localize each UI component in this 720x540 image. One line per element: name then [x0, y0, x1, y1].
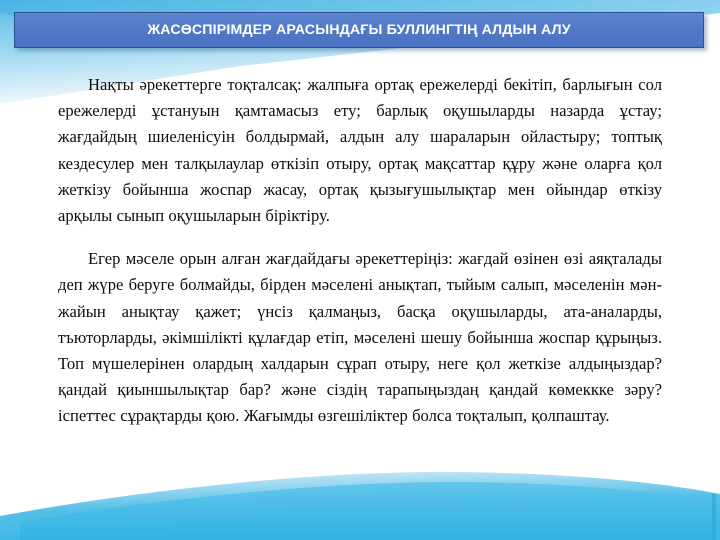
slide-title-bar: ЖАСӨСПІРІМДЕР АРАСЫНДАҒЫ БУЛЛИНГТІҢ АЛДЫ…: [14, 12, 704, 48]
bottom-arc-main: [20, 482, 712, 540]
body-paragraph-2: Егер мәселе орын алған жағдайдағы әрекет…: [58, 246, 662, 429]
bottom-arc-edge: [712, 494, 716, 540]
slide-body: Нақты әрекеттерге тоқталсақ: жалпыға орт…: [58, 72, 662, 430]
slide: ЖАСӨСПІРІМДЕР АРАСЫНДАҒЫ БУЛЛИНГТІҢ АЛДЫ…: [0, 0, 720, 540]
slide-title: ЖАСӨСПІРІМДЕР АРАСЫНДАҒЫ БУЛЛИНГТІҢ АЛДЫ…: [147, 23, 570, 37]
bottom-arc-light: [0, 472, 720, 540]
body-paragraph-1: Нақты әрекеттерге тоқталсақ: жалпыға орт…: [58, 72, 662, 229]
